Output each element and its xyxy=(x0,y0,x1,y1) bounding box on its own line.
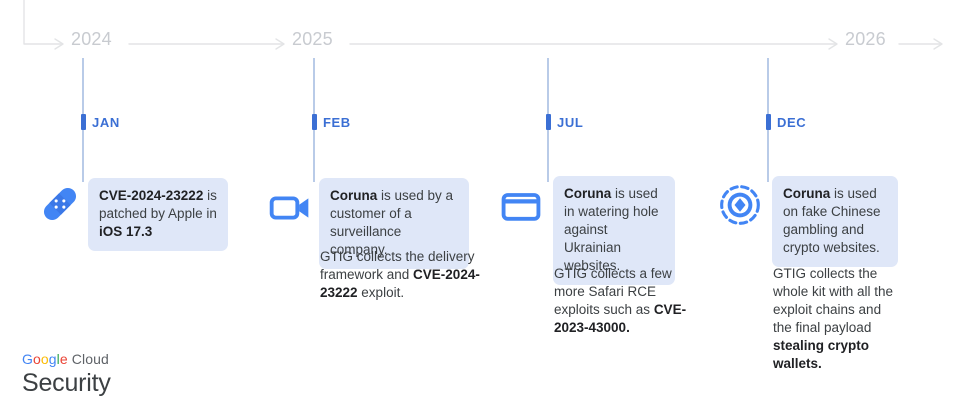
event-note: GTIG collects the delivery framework and… xyxy=(320,248,480,302)
month-label: DEC xyxy=(777,116,806,129)
google-letter-g1: G xyxy=(22,351,33,367)
axis-lines-svg xyxy=(0,0,960,60)
event-card: CVE-2024-23222 is patched by Apple in iO… xyxy=(88,178,228,251)
axis-year-2024: 2024 xyxy=(71,30,112,48)
timeline-axis: 2024 2025 2026 xyxy=(0,0,960,60)
google-letter-o1: o xyxy=(33,351,41,367)
event-note: GTIG collects a few more Safari RCE expl… xyxy=(554,265,694,337)
event-card-text: Coruna is used in watering hole against … xyxy=(564,186,659,273)
month-tick-icon xyxy=(546,114,551,130)
video-camera-icon xyxy=(268,186,312,230)
google-wordmark: Google xyxy=(22,351,68,367)
event-note-text: GTIG collects the delivery framework and… xyxy=(320,249,480,300)
bandage-patch-icon xyxy=(38,182,82,226)
google-letter-e: e xyxy=(60,351,68,367)
month-label: JUL xyxy=(557,116,583,129)
google-letter-o2: o xyxy=(41,351,49,367)
month-marker-jan: JAN xyxy=(81,114,120,130)
event-card-text: CVE-2024-23222 is patched by Apple in iO… xyxy=(99,188,217,239)
month-label: JAN xyxy=(92,116,120,129)
month-tick-icon xyxy=(766,114,771,130)
event-note-text: GTIG collects the whole kit with all the… xyxy=(773,266,893,371)
google-letter-g2: g xyxy=(49,351,57,367)
event-note-text: GTIG collects a few more Safari RCE expl… xyxy=(554,266,686,335)
month-label: FEB xyxy=(323,116,351,129)
google-cloud-wordmark: GoogleCloud xyxy=(22,352,111,366)
event-note: GTIG collects the whole kit with all the… xyxy=(773,265,901,373)
cloud-wordmark: Cloud xyxy=(72,351,109,367)
browser-window-icon xyxy=(499,184,543,228)
security-wordmark: Security xyxy=(22,370,111,398)
month-marker-dec: DEC xyxy=(766,114,806,130)
crypto-coin-icon xyxy=(718,183,762,227)
axis-year-2026: 2026 xyxy=(845,30,886,48)
month-tick-icon xyxy=(312,114,317,130)
event-card-text: Coruna is used on fake Chinese gambling … xyxy=(783,186,881,255)
month-marker-feb: FEB xyxy=(312,114,351,130)
month-marker-jul: JUL xyxy=(546,114,583,130)
axis-year-2025: 2025 xyxy=(292,30,333,48)
month-tick-icon xyxy=(81,114,86,130)
event-card: Coruna is used on fake Chinese gambling … xyxy=(772,176,898,267)
event-card-text: Coruna is used by a customer of a survei… xyxy=(330,188,453,257)
google-cloud-security-logo: GoogleCloud Security xyxy=(22,352,111,398)
